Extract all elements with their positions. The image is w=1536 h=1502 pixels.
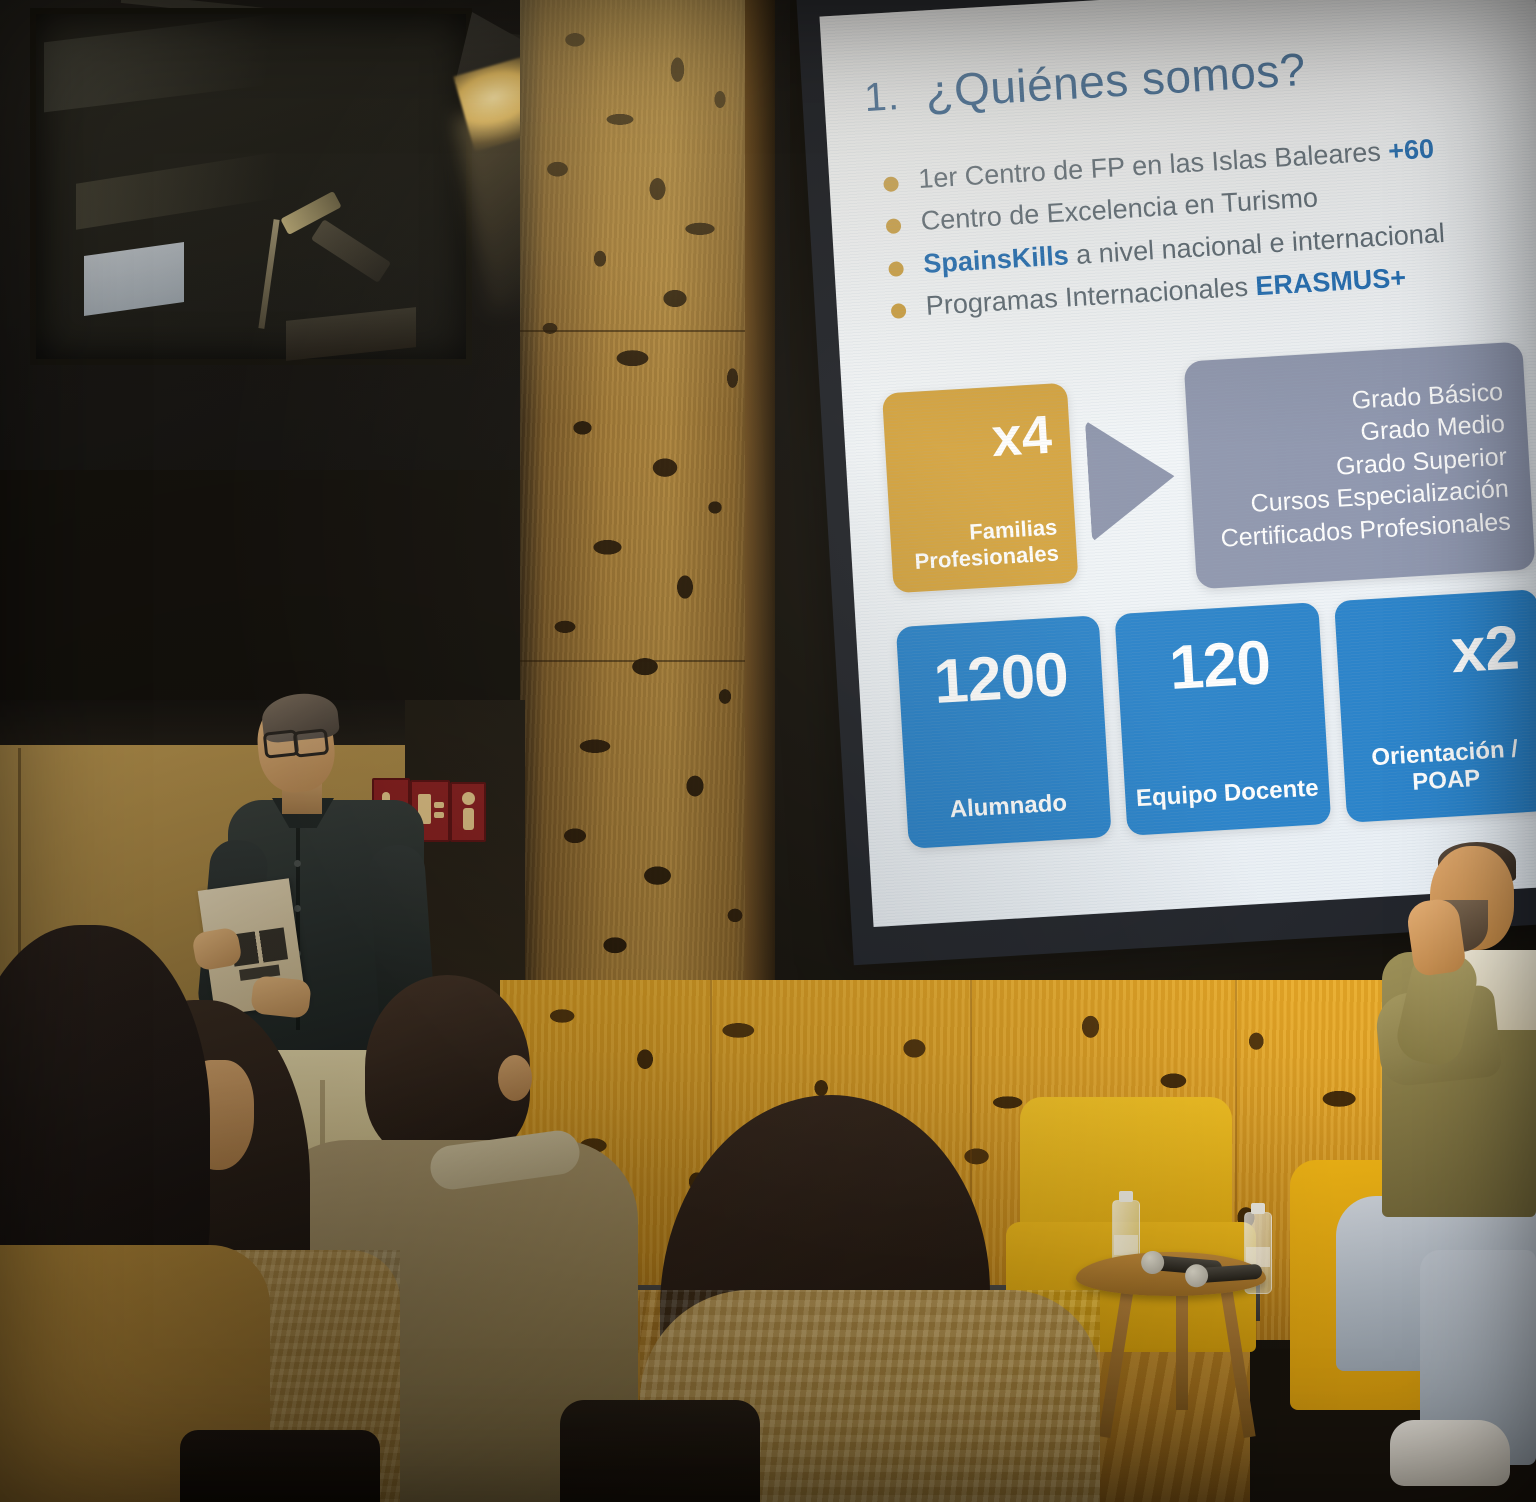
- panelist-shoe: [1390, 1420, 1510, 1486]
- qualifications-card: Grado Básico Grado Medio Grado Superior …: [1184, 341, 1536, 589]
- bullet-lead-highlight: SpainsKills: [922, 240, 1069, 279]
- stat-value: 120: [1116, 624, 1323, 707]
- stat-card-students: 1200 Alumnado: [896, 615, 1112, 849]
- audience-member-3-ear: [498, 1055, 532, 1101]
- families-card: x4 Familias Profesionales: [882, 382, 1079, 593]
- perforated-wood-panel-column: [520, 0, 770, 995]
- slide-number: 1.: [863, 74, 901, 121]
- audience-chair: [180, 1430, 380, 1502]
- flow-arrow-icon: [1085, 415, 1178, 542]
- mezzanine-backlight: [84, 242, 184, 316]
- families-count: x4: [990, 403, 1054, 468]
- wood-column-edge: [745, 0, 775, 995]
- bottle-label: [1114, 1235, 1138, 1255]
- speaker-right-hand: [250, 975, 312, 1019]
- stat-label: Alumnado: [906, 787, 1111, 827]
- projection-screen-frame: 1. ¿Quiénes somos? 1er Centro de FP en l…: [796, 0, 1536, 965]
- slide-flow-diagram: x4 Familias Profesionales Grado Básico G…: [881, 341, 1535, 607]
- bullet-dot-icon: [888, 261, 904, 277]
- slide-bullet-list: 1er Centro de FP en las Islas Baleares +…: [868, 126, 1519, 328]
- table-leg: [1176, 1288, 1188, 1410]
- shirt-button: [294, 905, 301, 912]
- bottle-cap: [1119, 1191, 1133, 1202]
- audience-chair: [560, 1400, 760, 1502]
- projected-slide: 1. ¿Quiénes somos? 1er Centro de FP en l…: [820, 0, 1536, 927]
- fire-alarm-call-point-sign: [450, 782, 486, 842]
- families-label: Familias Profesionales: [890, 514, 1068, 577]
- bottle-cap: [1251, 1203, 1265, 1214]
- stat-card-guidance: x2 Orientación / POAP: [1334, 589, 1536, 823]
- eyeglasses-right-lens-icon: [293, 728, 330, 757]
- slide-title: ¿Quiénes somos?: [924, 42, 1307, 118]
- stat-value: x2: [1335, 611, 1536, 694]
- stat-card-teaching-team: 120 Equipo Docente: [1115, 602, 1331, 836]
- mezzanine-window: [30, 8, 472, 365]
- stat-value: 1200: [897, 637, 1104, 720]
- stat-label: Equipo Docente: [1125, 774, 1330, 814]
- glass-reflection: [44, 6, 344, 113]
- bullet-dot-icon: [883, 176, 899, 192]
- slide-stats-row: 1200 Alumnado 120 Equipo Docente x2 Orie…: [896, 589, 1536, 849]
- bullet-highlight: +60: [1387, 133, 1435, 166]
- bullet-dot-icon: [891, 303, 907, 319]
- desk-lamp-arm: [258, 219, 279, 329]
- conference-photo-scene: 1. ¿Quiénes somos? 1er Centro de FP en l…: [0, 0, 1536, 1502]
- control-monitor: [311, 219, 391, 283]
- control-desk: [286, 307, 416, 361]
- stat-label: Orientación / POAP: [1342, 733, 1536, 800]
- bullet-dot-icon: [886, 219, 902, 235]
- column-light-falloff: [520, 0, 770, 420]
- bullet-highlight: ERASMUS+: [1255, 263, 1407, 302]
- slide-heading: 1. ¿Quiénes somos?: [863, 30, 1507, 122]
- shirt-button: [294, 860, 301, 867]
